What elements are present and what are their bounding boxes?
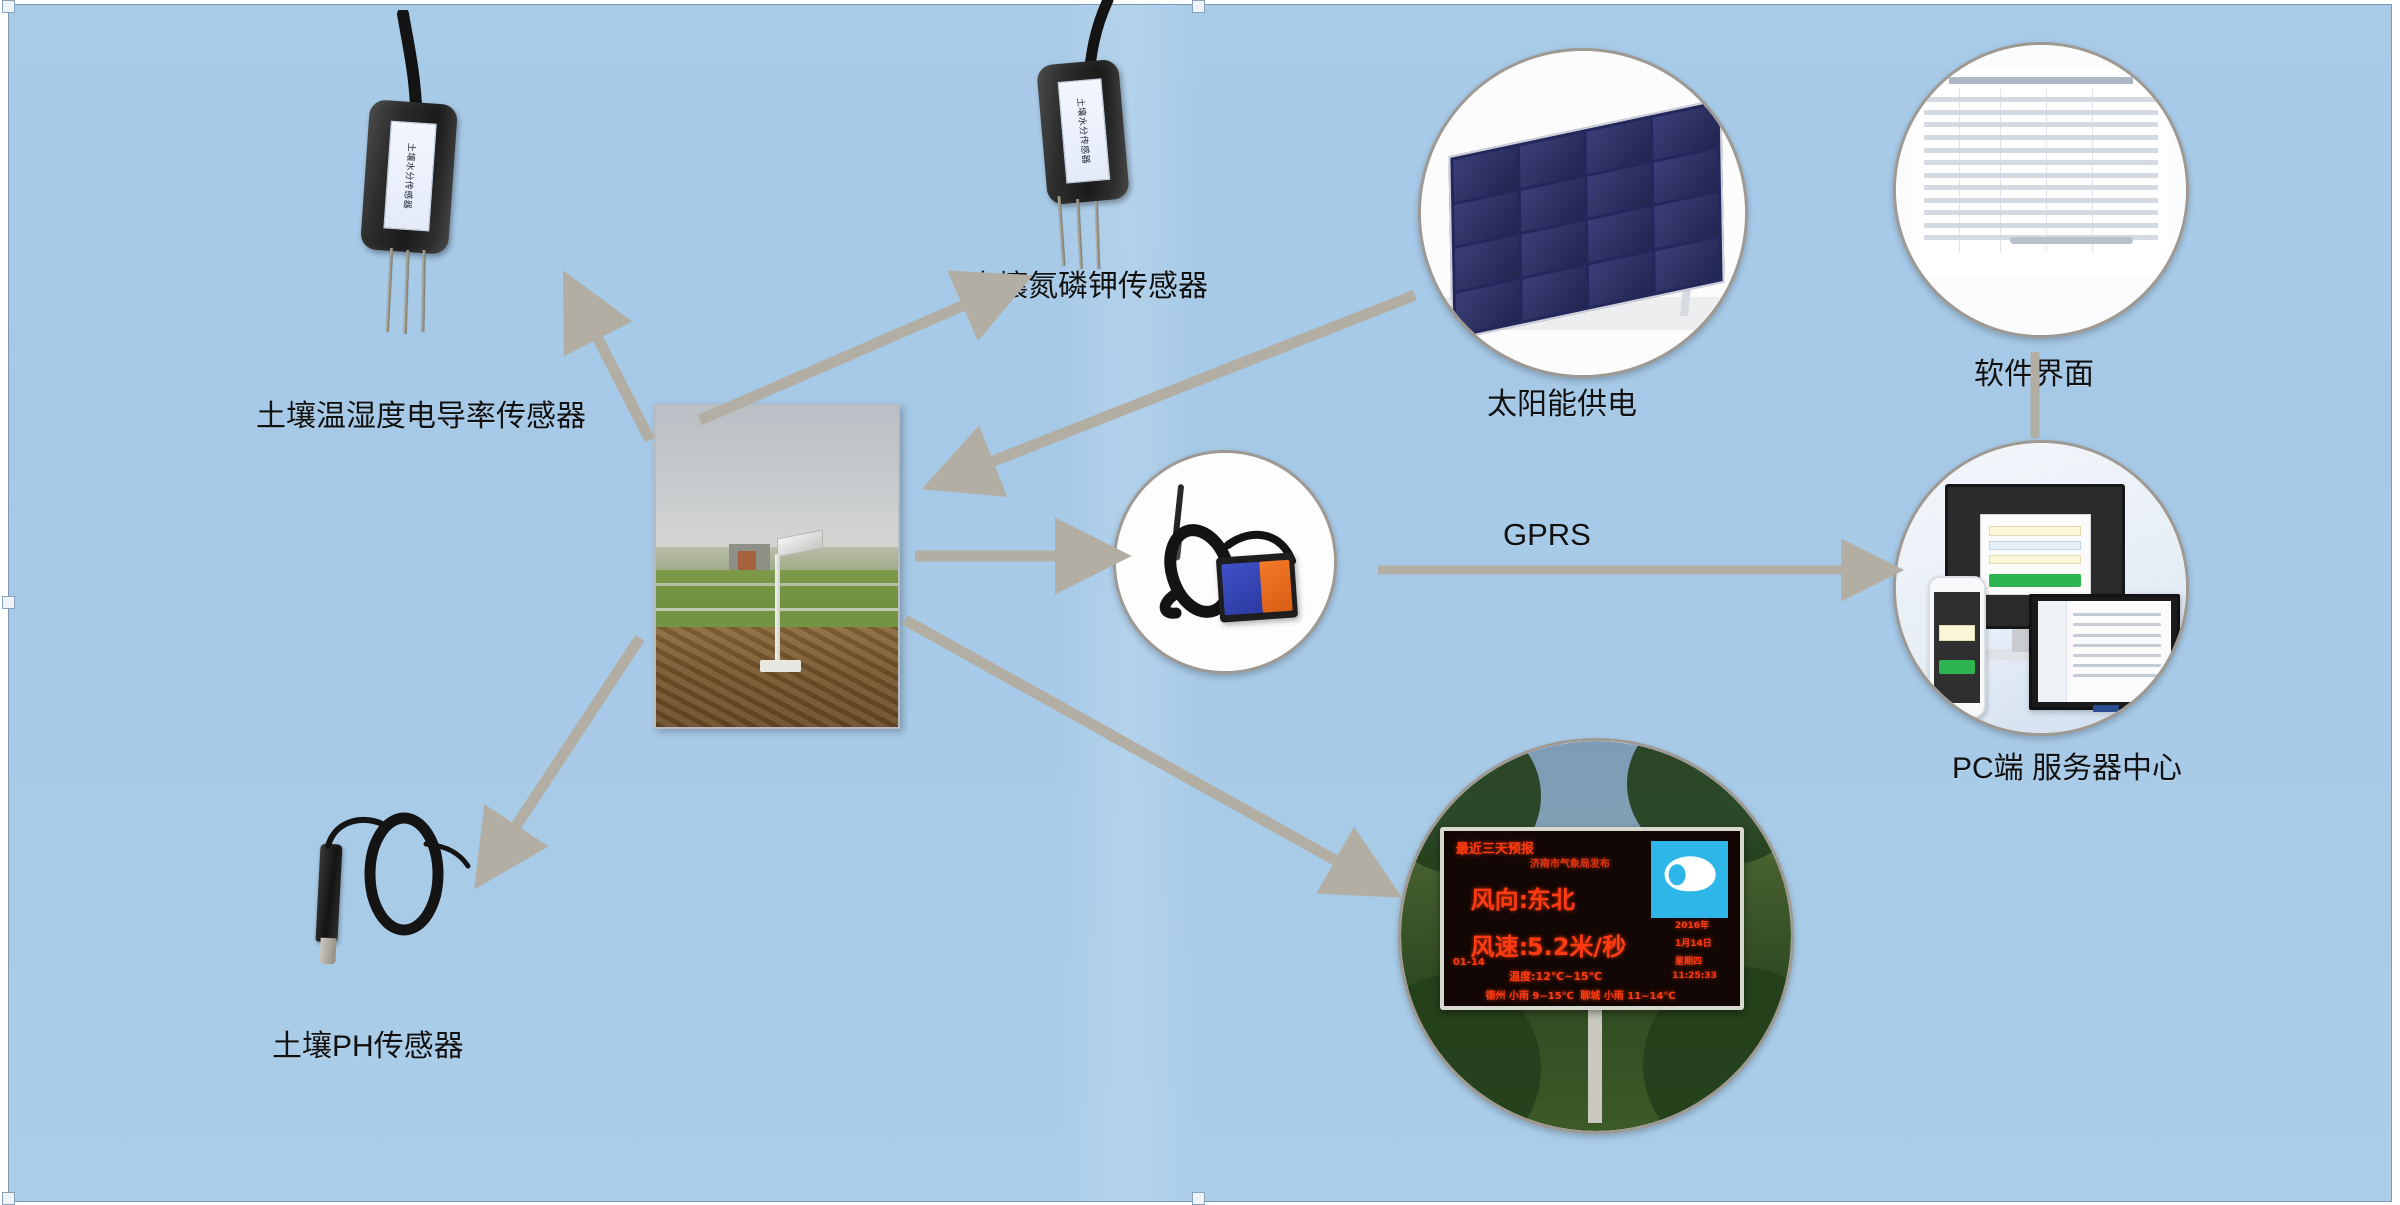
led-forecast-right: 聊城 小雨 11~14℃ [1580, 987, 1675, 1002]
sensor-product-label: 土壤水分传感器 [383, 121, 436, 232]
sensor-pin [1095, 201, 1100, 269]
soil-npk-sensor-caption: 土壤氮磷钾传感器 [968, 270, 1208, 303]
cloud-icon [1664, 856, 1715, 891]
software-table-header [1949, 77, 2133, 84]
gprs-link-label: GPRS [1503, 518, 1591, 552]
led-date-code: 01-14 [1453, 957, 1485, 968]
solar-power-caption: 太阳能供电 [1487, 388, 1637, 421]
gprs-module-body [1216, 553, 1299, 624]
soil-ph-sensor-image [300, 810, 490, 950]
led-weekday: 星期四 [1675, 954, 1702, 967]
software-interface-caption: 软件界面 [1974, 358, 2094, 391]
sensor-pin [421, 250, 425, 332]
login-username-field[interactable] [1989, 526, 2081, 535]
led-wind-speed-value: 5.2米/秒 [1527, 927, 1626, 962]
laptop-sidebar [2038, 601, 2067, 702]
software-window [1913, 68, 2168, 277]
gprs-module-orange-face [1260, 560, 1293, 613]
led-weather-board-photo: 最近三天预报 济南市气象局发布 风向: 东北 风速: 5.2米/秒 01-14 … [1398, 738, 1794, 1134]
pc-server-center-photo [1893, 440, 2189, 736]
led-board-pole [1588, 1006, 1602, 1123]
selection-handle-top-center[interactable] [1192, 0, 1205, 13]
sensor-label-cn: 土壤水分传感器 [401, 142, 419, 209]
photo-sky [656, 406, 898, 557]
soil-temp-hum-ec-sensor-caption: 土壤温湿度电导率传感器 [256, 400, 586, 433]
selection-handle-middle-left[interactable] [2, 596, 15, 609]
laptop-screen [2038, 601, 2171, 702]
ph-cable-icon [300, 810, 490, 950]
sensor-body: 土壤水分传感器 [360, 99, 458, 255]
laptop-device [2029, 594, 2180, 710]
led-header: 最近三天预报 [1456, 838, 1534, 857]
sensor-pin [386, 248, 393, 332]
led-time: 11:25:33 [1672, 971, 1717, 981]
sensor-label-cn: 土壤水分传感器 [1075, 97, 1094, 164]
login-submit-button[interactable] [1989, 574, 2081, 587]
pc-server-center-caption: PC端 服务器中心 [1952, 752, 2182, 785]
selection-handle-bottom-center[interactable] [1192, 1192, 1205, 1205]
soil-ph-sensor-caption: 土壤PH传感器 [272, 1030, 464, 1063]
phone-login-button[interactable] [1939, 660, 1975, 674]
software-interface-photo [1893, 42, 2189, 338]
gprs-module-photo [1113, 450, 1337, 674]
led-board-frame: 最近三天预报 济南市气象局发布 风向: 东北 风速: 5.2米/秒 01-14 … [1440, 827, 1744, 1010]
software-scrollbar[interactable] [2010, 237, 2132, 244]
field-station-photo [654, 404, 900, 729]
sensor-product-label: 土壤水分传感器 [1058, 78, 1111, 183]
sensor-pin [1076, 199, 1083, 269]
led-wind-direction-label: 风向: [1471, 880, 1529, 915]
soil-temp-hum-ec-sensor-image: 土壤水分传感器 [355, 10, 595, 350]
photo-pole [775, 554, 780, 663]
mobile-phone-device [1928, 576, 1986, 718]
led-forecast-left: 德州 小雨 9~15℃ [1485, 987, 1573, 1002]
sensor-body: 土壤水分传感器 [1036, 59, 1130, 206]
diagram-canvas: 土壤水分传感器 土壤温湿度电导率传感器 土壤水分传感器 土壤氮磷钾传感器 土壤 [0, 0, 2400, 1205]
gprs-module-blue-face [1221, 562, 1264, 616]
led-wind-direction-value: 东北 [1527, 880, 1575, 915]
photo-hut [729, 544, 770, 573]
selection-handle-bottom-left[interactable] [2, 1192, 15, 1205]
phone-login-field[interactable] [1939, 625, 1975, 640]
login-captcha-field[interactable] [1989, 555, 2081, 564]
laptop-logo [2093, 705, 2119, 713]
login-password-field[interactable] [1989, 541, 2081, 550]
login-dialog [1980, 514, 2091, 595]
led-subheader: 济南市气象局发布 [1530, 855, 1610, 870]
selection-handle-top-left[interactable] [2, 0, 15, 13]
led-date: 1月14日 [1675, 936, 1712, 949]
led-year: 2016年 [1675, 918, 1709, 931]
sensor-pin [404, 250, 410, 334]
solar-power-photo [1418, 48, 1748, 378]
weather-bureau-logo [1651, 841, 1728, 918]
led-temperature: 温度:12℃~15℃ [1509, 968, 1602, 984]
led-display-screen: 最近三天预报 济南市气象局发布 风向: 东北 风速: 5.2米/秒 01-14 … [1444, 831, 1740, 1006]
photo-base [760, 660, 801, 673]
sensor-pin [1058, 196, 1066, 266]
phone-screen [1934, 592, 1979, 702]
soil-npk-sensor-image: 土壤水分传感器 [1020, 0, 1260, 300]
